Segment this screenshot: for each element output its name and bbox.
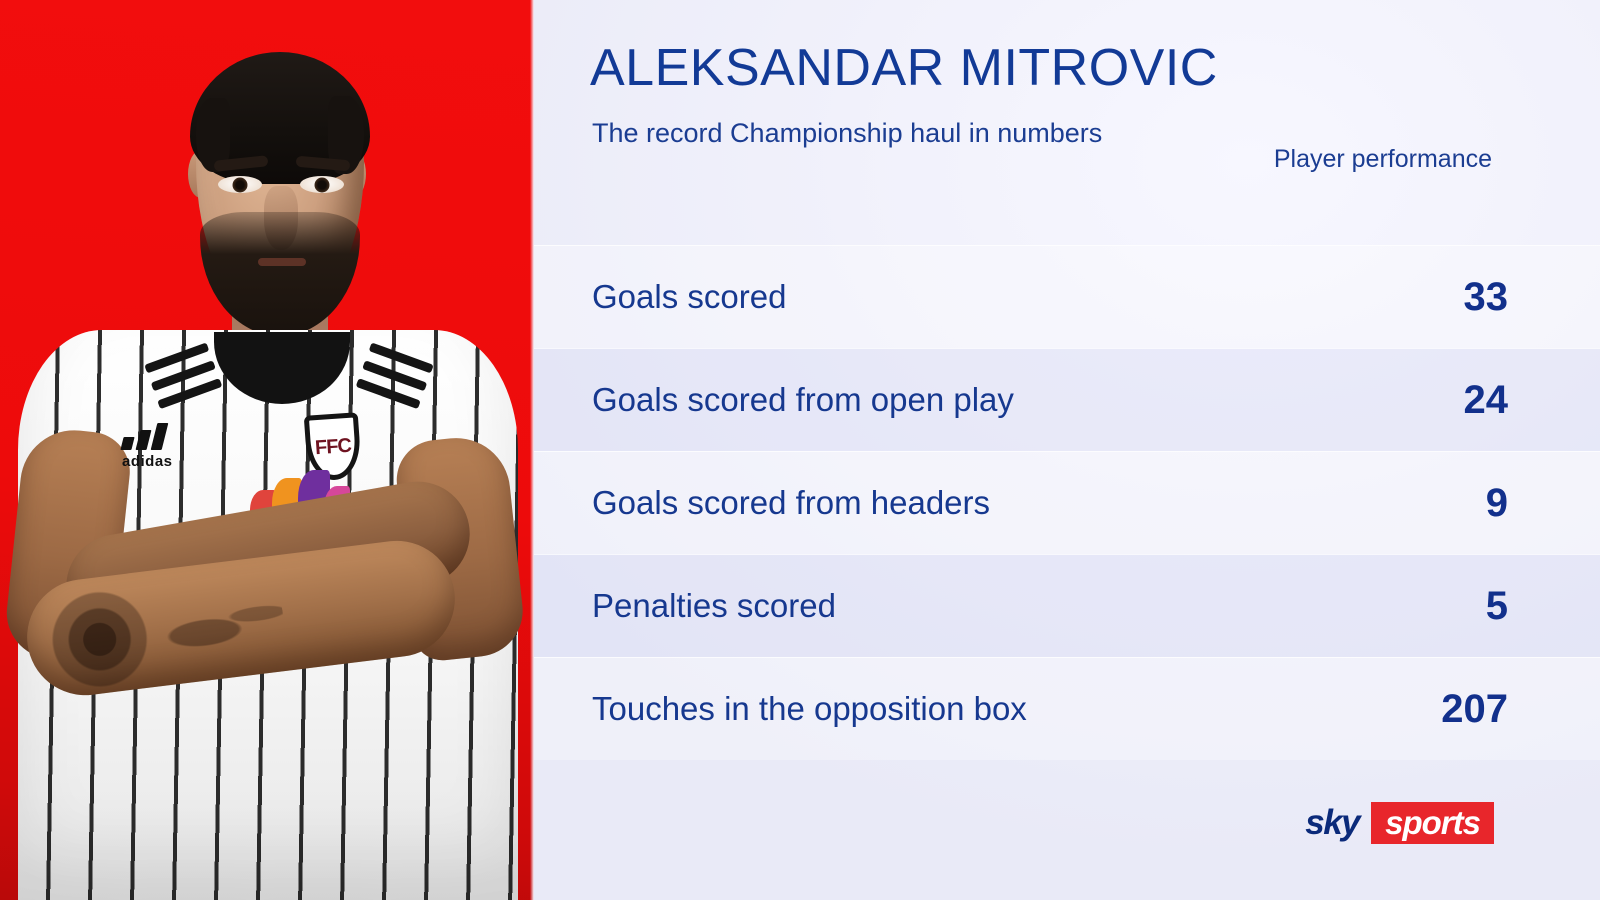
- page-subtitle: The record Championship haul in numbers: [592, 118, 1102, 149]
- stats-content-panel: ALEKSANDAR MITROVIC The record Champions…: [534, 0, 1600, 900]
- column-header-player-performance: Player performance: [1272, 143, 1492, 176]
- table-row: Goals scored from open play 24: [534, 348, 1600, 451]
- adidas-wordmark: adidas: [122, 453, 174, 470]
- table-row: Goals scored 33: [534, 245, 1600, 348]
- stat-value: 33: [1340, 275, 1600, 320]
- adidas-bars-icon: [122, 424, 174, 450]
- sky-sports-stats-graphic: adidas FFC ALEKSANDAR MITROVIC The recor…: [0, 0, 1600, 900]
- sky-wordmark: sky: [1305, 802, 1371, 844]
- table-row: Goals scored from headers 9: [534, 451, 1600, 554]
- player-eye-left: [218, 176, 262, 193]
- stat-value: 9: [1340, 481, 1600, 526]
- stat-label: Penalties scored: [534, 587, 1340, 625]
- stat-label: Goals scored: [534, 278, 1340, 316]
- stat-label: Goals scored from open play: [534, 381, 1340, 419]
- stat-value: 5: [1340, 584, 1600, 629]
- player-mouth: [258, 258, 306, 266]
- player-eye-right: [300, 176, 344, 193]
- sports-wordmark: sports: [1371, 802, 1494, 844]
- sky-sports-logo: sky sports: [1305, 802, 1494, 844]
- table-row: Touches in the opposition box 207: [534, 657, 1600, 760]
- stat-label: Touches in the opposition box: [534, 690, 1340, 728]
- page-title: ALEKSANDAR MITROVIC: [590, 38, 1218, 98]
- stat-label: Goals scored from headers: [534, 484, 1340, 522]
- player-photo-panel: adidas FFC: [0, 0, 534, 900]
- player-beard: [200, 212, 360, 336]
- stats-table: Goals scored 33 Goals scored from open p…: [534, 245, 1600, 760]
- adidas-logo-icon: adidas: [122, 424, 174, 470]
- table-row: Penalties scored 5: [534, 554, 1600, 657]
- stat-value: 24: [1340, 378, 1600, 423]
- stat-value: 207: [1340, 687, 1600, 732]
- player-portrait: adidas FFC: [0, 0, 534, 900]
